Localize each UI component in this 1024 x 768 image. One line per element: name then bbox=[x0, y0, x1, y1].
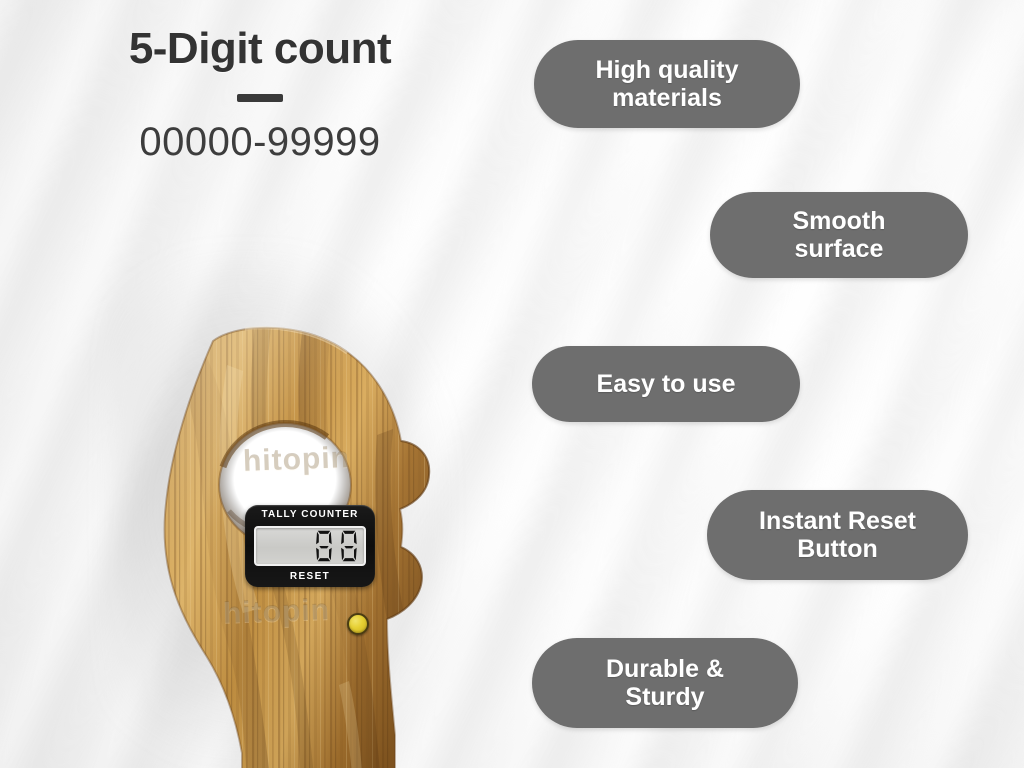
lcd-seven-segment-digit bbox=[338, 529, 360, 563]
feature-badge-line: Button bbox=[797, 535, 878, 563]
feature-badge-line: Durable & bbox=[606, 655, 724, 683]
feature-badge-text: High quality materials bbox=[595, 56, 738, 112]
reset-label: RESET bbox=[290, 572, 330, 582]
feature-badge-high-quality-materials: High quality materials bbox=[534, 40, 800, 128]
feature-badge-text: Durable & Sturdy bbox=[606, 655, 724, 711]
feature-badge-line: surface bbox=[795, 235, 884, 263]
counter-module: TALLY COUNTER RESET bbox=[245, 505, 375, 587]
title-divider bbox=[237, 94, 283, 102]
feature-badge-line: materials bbox=[612, 84, 722, 112]
reset-button[interactable] bbox=[347, 613, 369, 635]
lcd-digit-group bbox=[313, 529, 360, 563]
lcd-seven-segment-digit bbox=[313, 529, 335, 563]
feature-badge-line: Smooth bbox=[792, 207, 885, 235]
feature-badge-text: Smooth surface bbox=[792, 207, 885, 263]
feature-badge-easy-to-use: Easy to use bbox=[532, 346, 800, 422]
feature-badge-durable-and-sturdy: Durable & Sturdy bbox=[532, 638, 798, 728]
product-image-wooden-tally-counter: TALLY COUNTER RESET hitopin hitopin bbox=[95, 215, 515, 768]
feature-badge-line: High quality bbox=[595, 56, 738, 84]
count-range-label: 00000-99999 bbox=[0, 120, 520, 165]
feature-badge-line: Sturdy bbox=[625, 683, 704, 711]
headline-block: 5-Digit count 00000-99999 bbox=[0, 26, 520, 165]
feature-badge-line: Instant Reset bbox=[759, 507, 916, 535]
counter-module-title: TALLY COUNTER bbox=[262, 510, 359, 520]
product-feature-image: 5-Digit count 00000-99999 High quality m… bbox=[0, 0, 1024, 768]
feature-badge-text: Easy to use bbox=[597, 370, 736, 398]
feature-badge-text: Instant Reset Button bbox=[759, 507, 916, 563]
feature-badge-instant-reset-button: Instant Reset Button bbox=[707, 490, 968, 580]
product-body-illustration bbox=[95, 215, 515, 768]
lcd-display bbox=[254, 526, 366, 566]
feature-badge-smooth-surface: Smooth surface bbox=[710, 192, 968, 278]
page-title: 5-Digit count bbox=[0, 26, 520, 72]
